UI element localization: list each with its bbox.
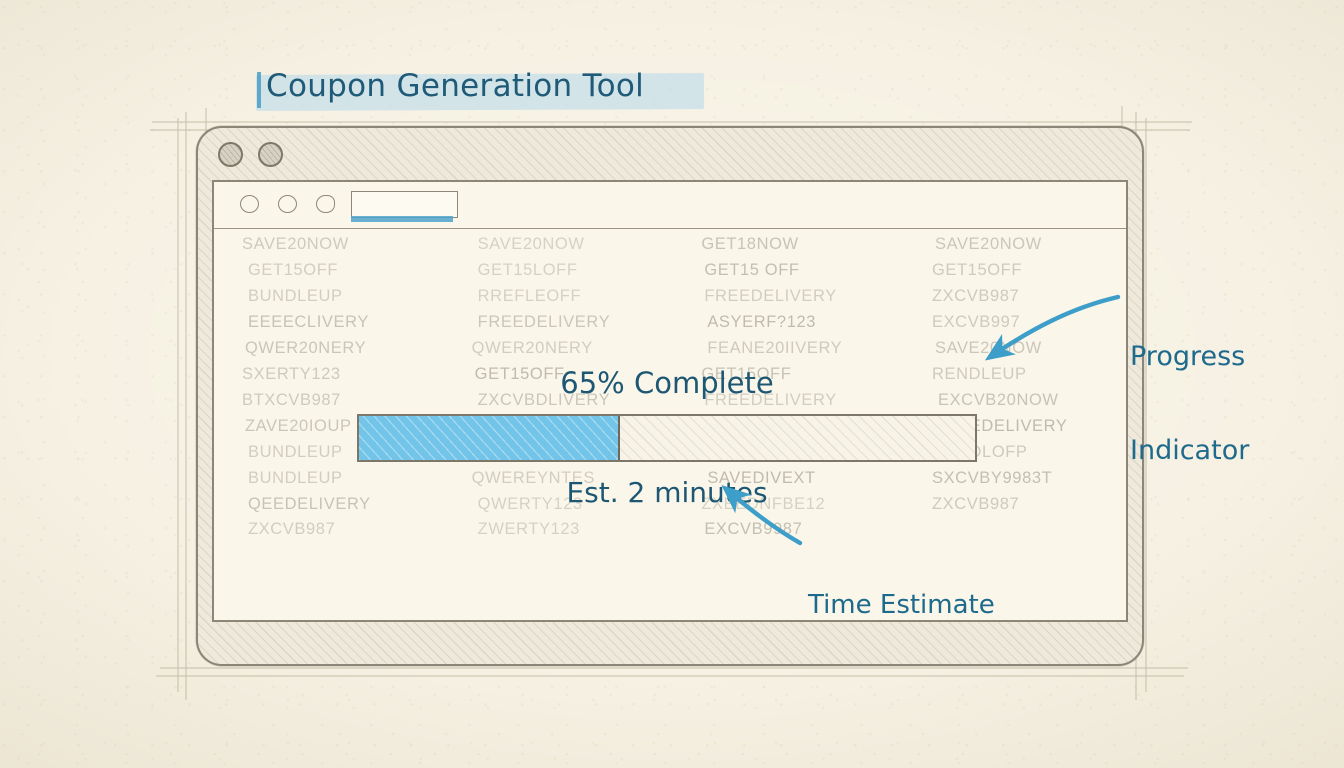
coupon-code: GET15LOFF: [478, 260, 638, 281]
coupon-code: BUNDLEUP: [248, 286, 408, 307]
coupon-code: SAVE20NOW: [935, 234, 1095, 255]
annotation-line-1: Progress: [1130, 341, 1249, 372]
coupon-code: FEANE20IIVERY: [707, 338, 867, 359]
coupon-code: EXCVB997: [932, 312, 1092, 333]
window-dot-minimize-icon[interactable]: [258, 142, 283, 167]
annotation-line-2: Indicator: [1130, 435, 1249, 466]
browser-toolbar: [214, 182, 1126, 229]
address-bar-focus-underline: [351, 216, 453, 222]
progress-indicator: 65% Complete Est. 2 minutes: [357, 414, 977, 462]
page-title: Coupon Generation Tool: [266, 68, 644, 104]
browser-window: SAVE20NOWGET15OFFBUNDLEUPEEEECLIVERYQWER…: [196, 126, 1144, 666]
page-title-block: Coupon Generation Tool: [252, 68, 722, 114]
coupon-code: GET15OFF: [932, 260, 1092, 281]
coupon-code: SAVE20NOW: [242, 234, 402, 255]
coupon-code: ZXCVB987: [248, 519, 408, 540]
progress-bar-track[interactable]: [357, 414, 977, 462]
address-bar-input[interactable]: [351, 191, 458, 218]
coupon-code: EEEECLIVERY: [248, 312, 408, 333]
coupon-code: GET15 OFF: [704, 260, 864, 281]
back-icon[interactable]: [240, 195, 259, 213]
coupon-code: QWER20NERY: [245, 338, 405, 359]
forward-icon[interactable]: [316, 195, 335, 213]
toolbar-icon-group: [240, 195, 335, 213]
window-controls[interactable]: [218, 142, 283, 167]
coupon-code: GET18NOW: [701, 234, 861, 255]
time-estimate-label: Est. 2 minutes: [357, 476, 977, 509]
coupon-code: SAVE20NOW: [935, 338, 1095, 359]
coupon-code: ASYERF?123: [707, 312, 867, 333]
coupon-code: ZXCVB987: [932, 286, 1092, 307]
progress-bar-fill: [359, 416, 620, 460]
coupon-code: FREEDELIVERY: [704, 286, 864, 307]
title-accent-bar: [257, 72, 261, 108]
coupon-code: QWER20NERY: [472, 338, 632, 359]
window-dot-close-icon[interactable]: [218, 142, 243, 167]
reload-icon[interactable]: [278, 195, 297, 213]
coupon-code: GET15OFF: [248, 260, 408, 281]
progress-percent-label: 65% Complete: [357, 366, 977, 400]
annotation-line-1: Time Estimate: [808, 590, 995, 620]
coupon-code: SAVE20NOW: [478, 234, 638, 255]
annotation-time-estimate: Time Estimate: [808, 530, 995, 651]
annotation-progress-indicator: Progress Indicator: [1130, 278, 1249, 497]
coupon-code: ZWERTY123: [478, 519, 638, 540]
coupon-code: FREEDELIVERY: [478, 312, 638, 333]
coupon-code: RREFLEOFF: [478, 286, 638, 307]
